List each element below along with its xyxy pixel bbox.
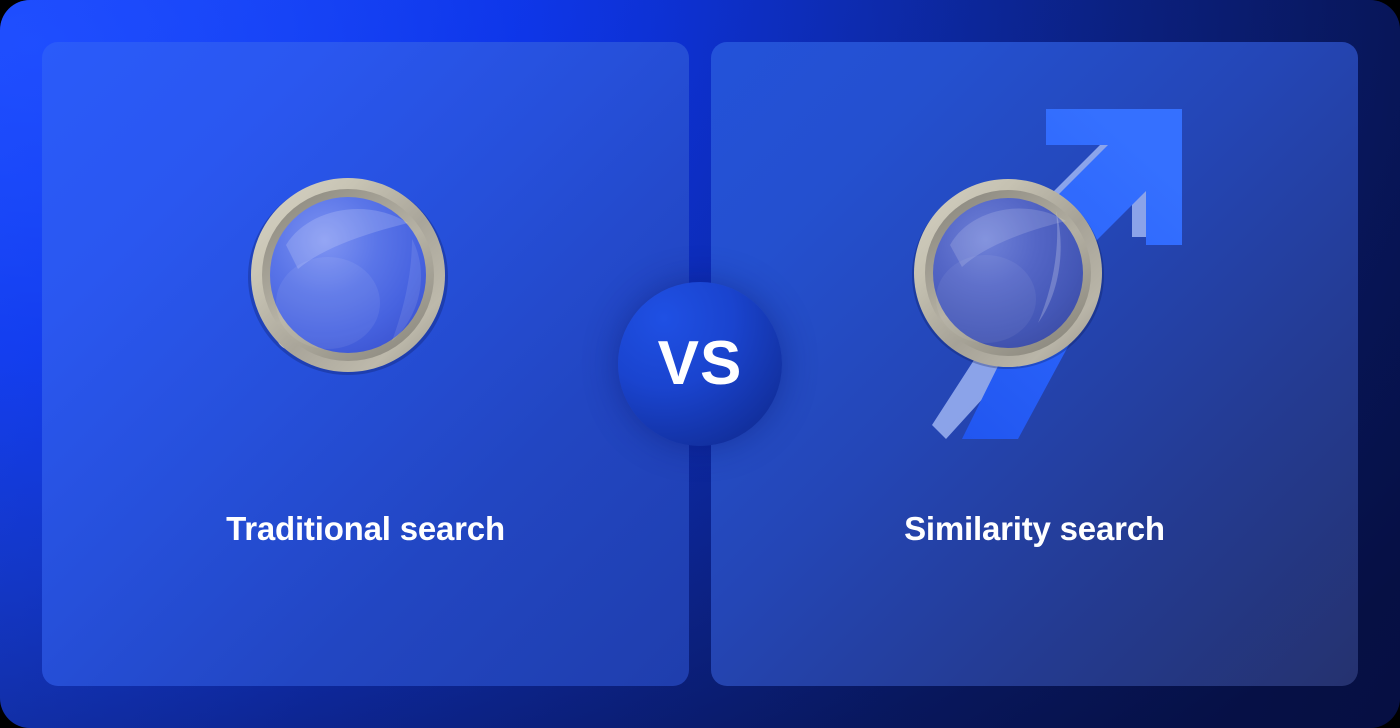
panel-similarity-search[interactable]: Similarity search	[711, 42, 1358, 686]
panel-label-traditional-search: Traditional search	[226, 512, 505, 545]
panel-traditional-search[interactable]: Traditional search	[42, 42, 689, 686]
magnifying-glass-icon	[216, 127, 516, 427]
lens-highlight-soft	[276, 257, 380, 349]
vs-badge: VS	[618, 282, 782, 446]
comparison-graphic: Traditional search	[0, 0, 1400, 728]
traditional-search-icon-area	[42, 42, 689, 512]
lens-highlight-soft	[936, 255, 1036, 343]
magnifying-glass-with-trend-arrow-icon	[870, 87, 1200, 467]
panel-label-similarity-search: Similarity search	[904, 512, 1165, 545]
similarity-search-icon-area	[711, 42, 1358, 512]
vs-label: VS	[658, 333, 743, 395]
